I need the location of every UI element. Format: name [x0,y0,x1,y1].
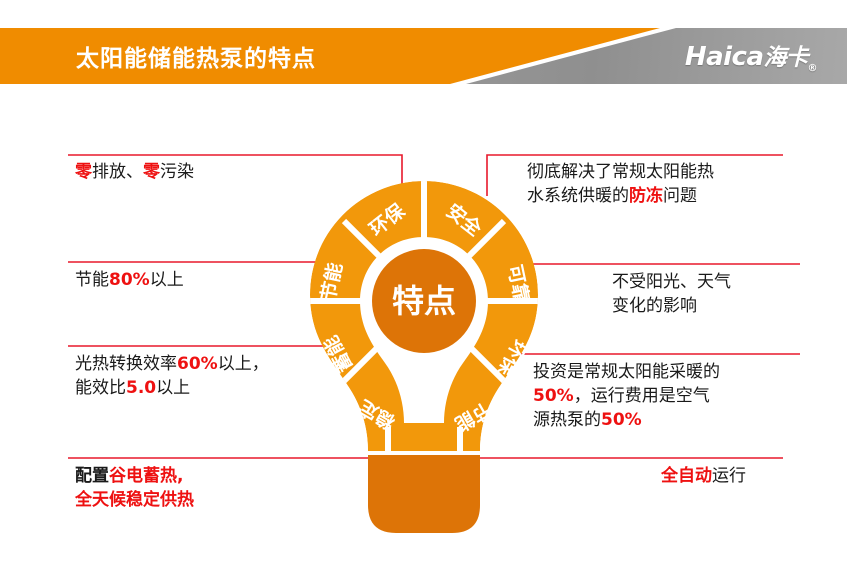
lightbulb-diagram: 特点 环保 安全 节能 可靠 蓄能 环保 稳定 节能 [288,175,560,545]
callout-line: 节能80%以上 [75,268,184,292]
callout-line: 源热泵的50% [533,408,720,432]
highlight-text: 零 [143,162,160,182]
callout-line: 投资是常规太阳能采暖的 [533,360,720,384]
callout-line: 50%，运行费用是空气 [533,384,720,408]
callout-line: 变化的影响 [612,294,731,318]
plain-text: 以上 [150,270,184,290]
callout-valley-power-storage: 配置谷电蓄热,全天候稳定供热 [75,464,194,512]
brand-logo: Haica海卡® [685,38,817,74]
logo-latin-text: Haica [685,42,764,72]
bulb-neck-gap [368,451,480,455]
page-header: 太阳能储能热泵的特点 Haica海卡® [0,28,847,84]
plain-text: 光热转换效率 [75,354,177,374]
plain-text: 能效比 [75,378,126,398]
callout-line: 配置谷电蓄热, [75,464,194,488]
plain-text: 以上， [218,354,269,374]
plain-text: 以上 [156,378,190,398]
callout-line: 零排放、零污染 [75,160,194,184]
highlight-text: 全天候稳定供热 [75,490,194,510]
plain-text: 问题 [663,186,697,206]
highlight-text: 全自动 [661,466,712,486]
callout-line: 能效比5.0以上 [75,376,269,400]
callout-energy-saving: 节能80%以上 [75,268,184,292]
bulb-center-label: 特点 [392,282,456,320]
logo-chinese-text: 海卡 [764,45,808,71]
highlight-text: 80% [109,270,150,290]
plain-text: 变化的影响 [612,296,697,316]
callout-zero-emission: 零排放、零污染 [75,160,194,184]
highlight-text: 防冻 [629,186,663,206]
plain-text: ，运行费用是空气 [574,386,710,406]
plain-text: 彻底解决了常规太阳能热 [527,162,714,182]
plain-text: 源热泵的 [533,410,601,430]
plain-text: 投资是常规太阳能采暖的 [533,362,720,382]
plain-text: 节能 [75,270,109,290]
plain-text: 水系统供暖的 [527,186,629,206]
highlight-text: 50% [533,386,574,406]
highlight-text: 零 [75,162,92,182]
callout-anti-freeze: 彻底解决了常规太阳能热水系统供暖的防冻问题 [527,160,714,208]
callout-line: 全天候稳定供热 [75,488,194,512]
callout-line: 全自动运行 [661,464,746,488]
callout-line: 光热转换效率60%以上， [75,352,269,376]
bulb-base [368,455,480,533]
highlight-text: 5.0 [126,378,156,398]
highlight-text: 谷电蓄热, [109,466,183,486]
callout-line: 彻底解决了常规太阳能热 [527,160,714,184]
callout-line: 不受阳光、天气 [612,270,731,294]
highlight-text: 60% [177,354,218,374]
callout-investment-cost: 投资是常规太阳能采暖的50%，运行费用是空气源热泵的50% [533,360,720,432]
page-title: 太阳能储能热泵的特点 [76,39,316,73]
plain-text: 配置 [75,466,109,486]
highlight-text: 50% [601,410,642,430]
callout-weather-independent: 不受阳光、天气变化的影响 [612,270,731,318]
registered-trademark-icon: ® [808,63,818,74]
plain-text: 排放、 [92,162,143,182]
callout-conversion-efficiency: 光热转换效率60%以上，能效比5.0以上 [75,352,269,400]
plain-text: 不受阳光、天气 [612,272,731,292]
callout-line: 水系统供暖的防冻问题 [527,184,714,208]
callout-fully-automatic: 全自动运行 [661,464,746,488]
plain-text: 污染 [160,162,194,182]
plain-text: 运行 [712,466,746,486]
